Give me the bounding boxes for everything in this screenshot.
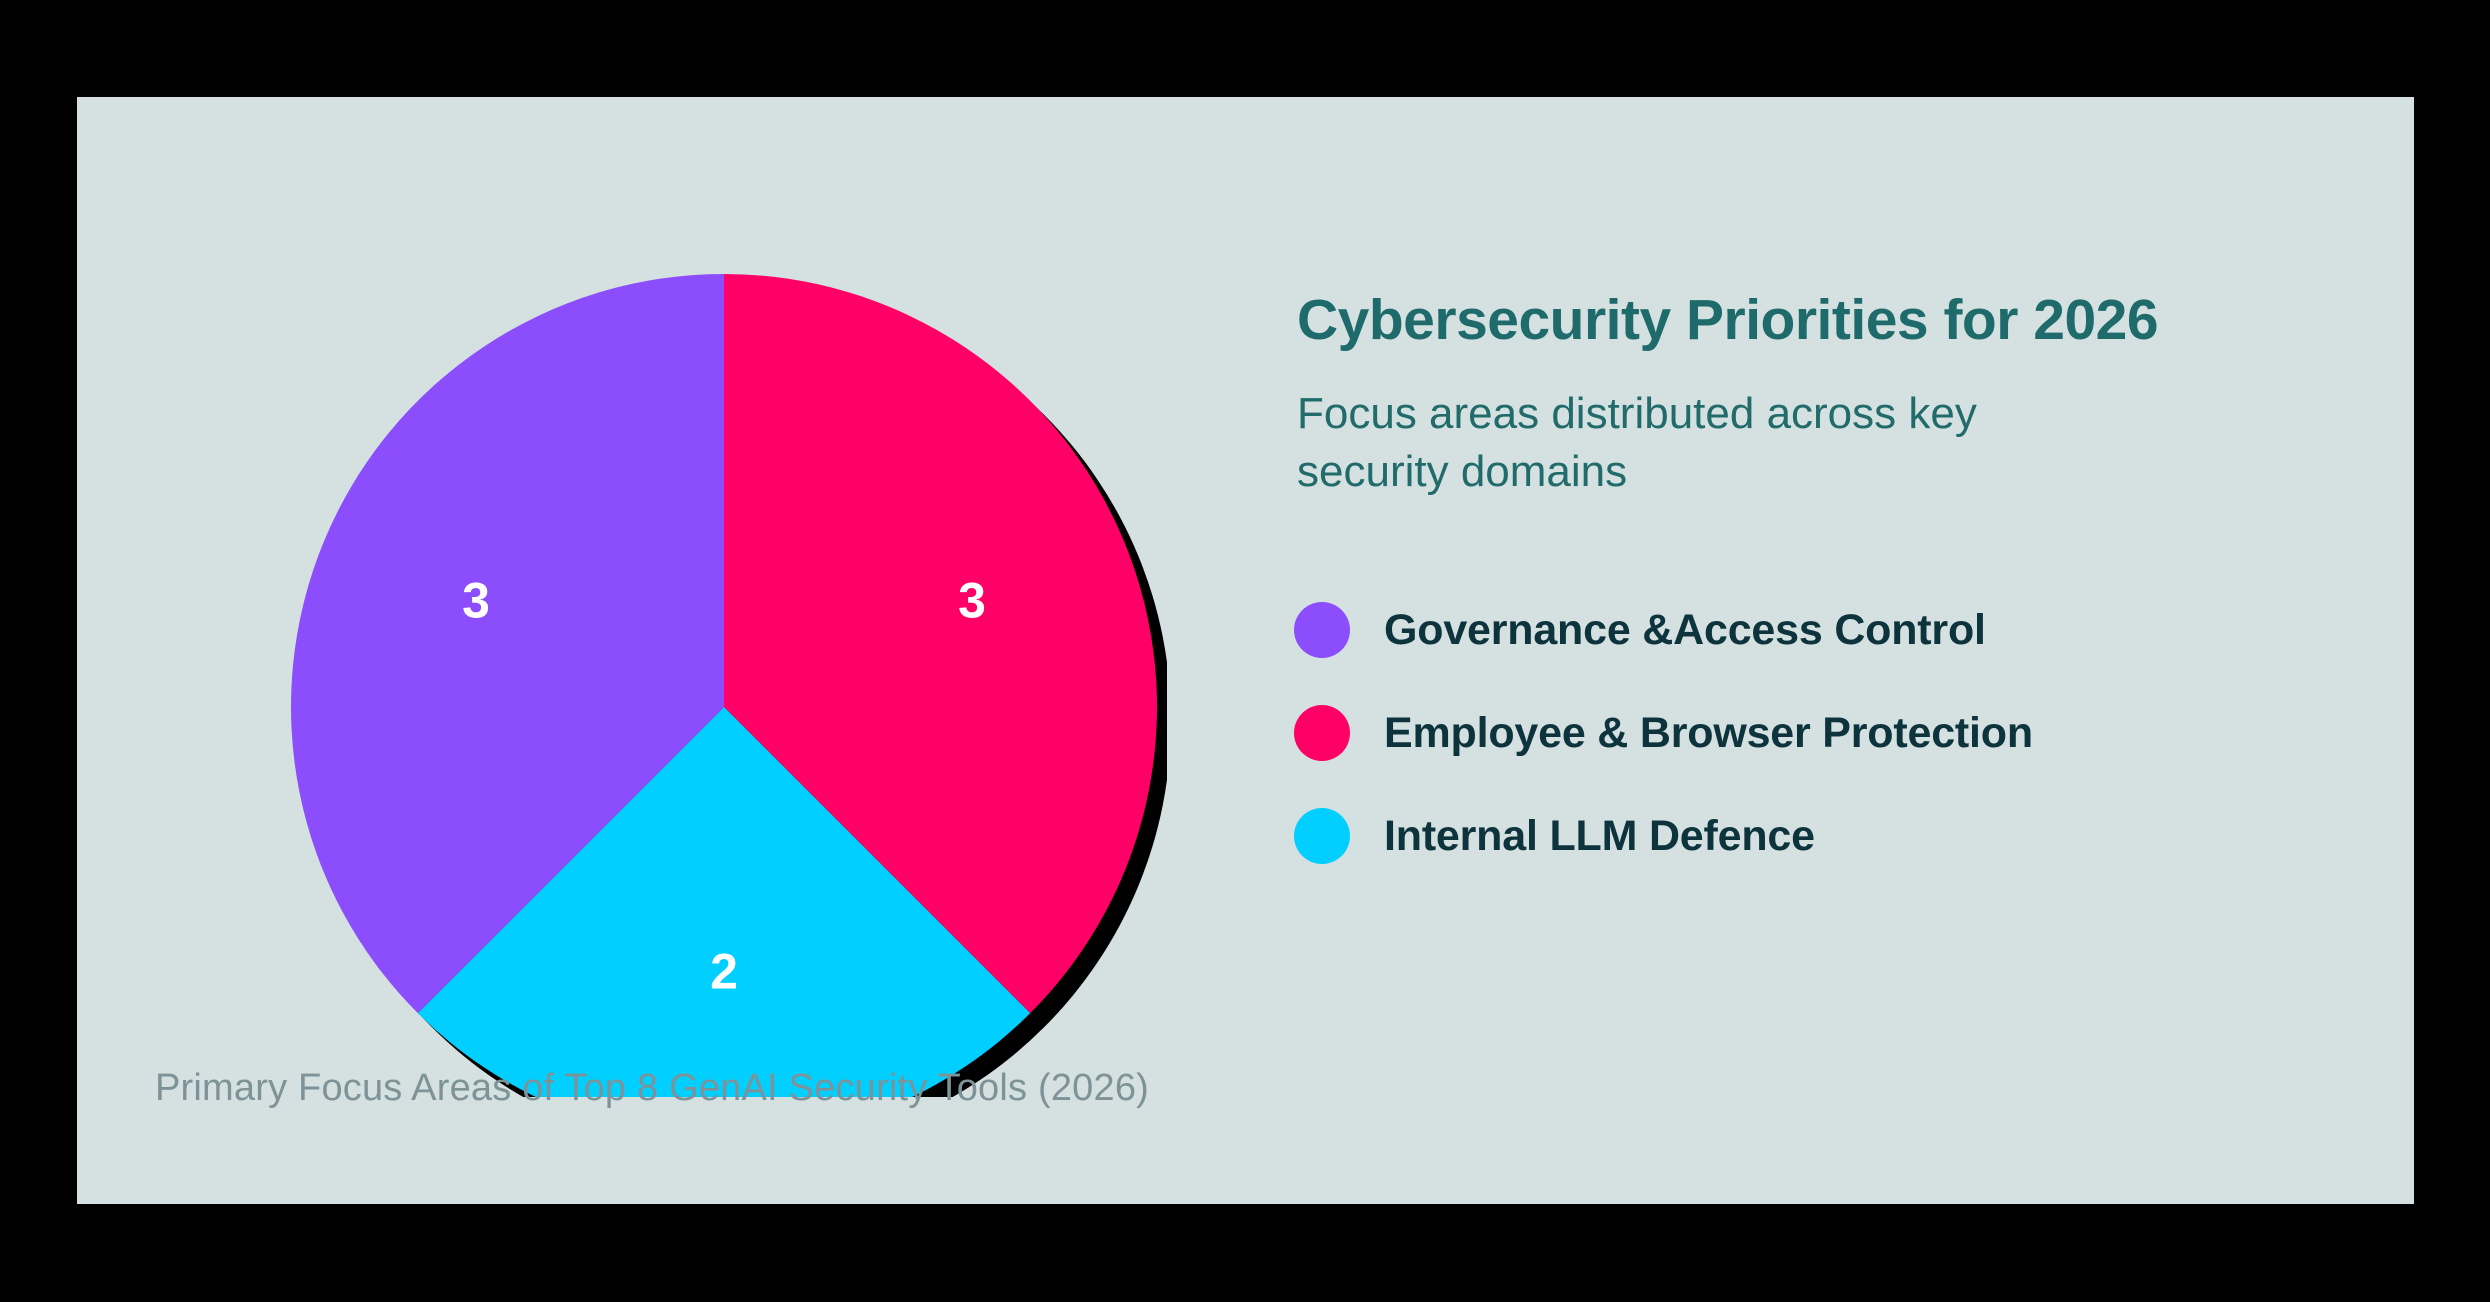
legend-item-label: Internal LLM Defence [1384,812,1815,861]
pie-chart-panel: 323 Primary Focus Areas of Top 8 GenAI S… [77,97,1227,1204]
legend-item[interactable]: Governance &Access Control [1294,595,2294,665]
pie-chart-svg: 323 [137,117,1167,1097]
chart-info-panel: Cybersecurity Priorities for 2026 Focus … [1252,97,2412,1204]
chart-subtitle: Focus areas distributed across key secur… [1297,385,1977,501]
chart-legend: Governance &Access ControlEmployee & Bro… [1294,595,2294,871]
legend-item[interactable]: Employee & Browser Protection [1294,698,2294,768]
legend-item-label: Governance &Access Control [1384,606,1986,655]
chart-footer-caption: Primary Focus Areas of Top 8 GenAI Secur… [77,1067,1227,1110]
chart-title: Cybersecurity Priorities for 2026 [1297,287,2158,353]
legend-item-label: Employee & Browser Protection [1384,709,2033,758]
chart-card: 323 Primary Focus Areas of Top 8 GenAI S… [77,97,2414,1204]
legend-swatch-circle-icon [1294,808,1350,864]
legend-swatch-circle-icon [1294,602,1350,658]
legend-swatch-circle-icon [1294,705,1350,761]
pie-slice-value-label: 3 [958,572,986,628]
legend-item[interactable]: Internal LLM Defence [1294,801,2294,871]
pie-slice-value-label: 3 [462,572,490,628]
pie-slice-value-label: 2 [710,944,738,1000]
outer-frame: 323 Primary Focus Areas of Top 8 GenAI S… [0,0,2490,1302]
